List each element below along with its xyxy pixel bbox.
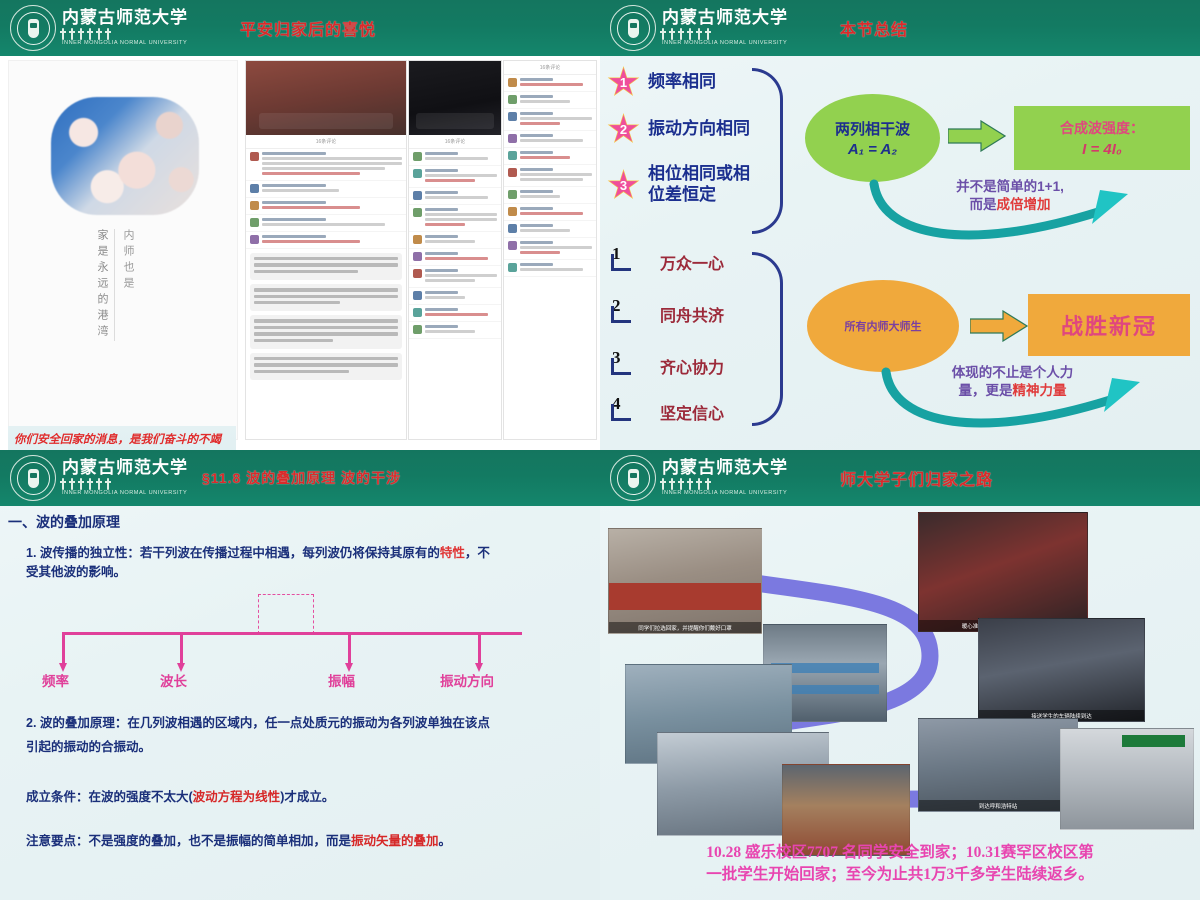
curve-note-2-line1: 体现的不止是个人力 [905, 364, 1120, 382]
curve-note-2: 体现的不止是个人力 量，更是精神力量 [905, 364, 1120, 400]
slide-title-top-left: 平安归家后的喜悦 [240, 16, 376, 40]
moments-column-3: 16条评论 [503, 60, 597, 440]
tree-branch-frequency [62, 632, 65, 664]
slide-body-bottom-left: 一、波的叠加原理 1. 波传播的独立性：若干列波在传播过程中相遇，每列波仍将保持… [0, 506, 600, 900]
slide-bottom-right: 内蒙古师范大学 INNER MONGOLIA NORMAL UNIVERSITY… [600, 450, 1200, 900]
list-item [246, 198, 406, 215]
photo-caption: 到达呼和浩特站 [919, 800, 1077, 811]
slide-title-top-right: 本节总结 [840, 16, 908, 40]
list-item [504, 109, 596, 131]
slide-top-right: 内蒙古师范大学 INNER MONGOLIA NORMAL UNIVERSITY… [600, 0, 1200, 450]
university-cn-name: 内蒙古师范大学 [662, 459, 788, 476]
curve-note-1-line2-em: 成倍增加 [997, 197, 1051, 212]
paragraph-independence: 1. 波传播的独立性：若干列波在传播过程中相遇，每列波仍将保持其原有的特性，不 … [26, 544, 588, 583]
idea-label-1: 万众一心 [660, 250, 724, 274]
slide-bottom-left: 内蒙古师范大学 INNER MONGOLIA NORMAL UNIVERSITY… [0, 450, 600, 900]
comment-bubble [250, 315, 402, 349]
list-item [409, 205, 501, 232]
footer-line2: 一批学生开始回家；至今为止共1万3千多学生陆续返乡。 [610, 864, 1190, 886]
star-badge-2: 2 [609, 115, 638, 144]
poster-text-main: 家是永远的港湾 [89, 229, 114, 341]
p1-part-b: ，不 [465, 546, 490, 560]
paragraph-note: 注意要点：不是强度的叠加，也不是振幅的简单相加，而是振动矢量的叠加。 [26, 832, 592, 851]
paragraph-condition: 成立条件：在波的强度不太大(波动方程为线性)才成立。 [26, 788, 592, 807]
curve-note-2-line2: 量，更是精神力量 [905, 382, 1120, 400]
night-scene-photo [409, 61, 501, 135]
p4-emphasis: 振动矢量的叠加 [351, 834, 439, 848]
curve-note-1-line1: 并不是简单的1+1, [900, 178, 1120, 196]
university-wordmark: 内蒙古师范大学 INNER MONGOLIA NORMAL UNIVERSITY [62, 9, 188, 47]
photo-station-crowd: 到达呼和浩特站 [918, 718, 1078, 812]
coherent-wave-ellipse: 两列相干波 A₁ = A₂ [805, 94, 940, 182]
university-wordmark: 内蒙古师范大学 INNER MONGOLIA NORMAL UNIVERSITY [62, 459, 188, 497]
university-cn-name: 内蒙古师范大学 [62, 459, 188, 476]
curve-note-1: 并不是简单的1+1, 而是成倍增加 [900, 178, 1120, 214]
comment-count-label-2: 16条评论 [409, 135, 501, 149]
comment-bubble [250, 253, 402, 280]
tree-leaf-amplitude: 振幅 [328, 670, 355, 690]
list-item [409, 266, 501, 288]
list-item [504, 165, 596, 187]
university-wordmark: 内蒙古师范大学 INNER MONGOLIA NORMAL UNIVERSITY [662, 9, 788, 47]
idea-number-3: 3 [610, 350, 632, 376]
list-item [504, 92, 596, 109]
tree-leaf-direction: 振动方向 [440, 670, 494, 690]
list-item [409, 322, 501, 339]
comment-bubble [250, 284, 402, 311]
encouragement-caption: 你们安全回家的消息，是我们奋斗的不竭动力！ [8, 426, 236, 450]
comment-count-label-3: 16条评论 [504, 61, 596, 75]
condition-label-3-line2: 位差恒定 [648, 184, 750, 205]
all-members-ellipse: 所有内师大师生 [807, 280, 959, 372]
list-item [504, 75, 596, 92]
university-seal-icon [610, 5, 656, 51]
university-logo: 内蒙古师范大学 INNER MONGOLIA NORMAL UNIVERSITY [610, 455, 788, 501]
photo-red-carpet-farewell: 同学们拉选回家，并提醒你们戴好口罩 [608, 528, 762, 634]
mongolian-script [662, 478, 788, 490]
university-seal-icon [10, 5, 56, 51]
result-line1: 合成波强度： [1060, 118, 1144, 138]
university-seal-icon [610, 455, 656, 501]
p3-emphasis: 波动方程为线性 [193, 790, 281, 804]
university-en-name: INNER MONGOLIA NORMAL UNIVERSITY [62, 491, 188, 497]
photo-platform-walking [1060, 728, 1194, 830]
curve-note-1-line2-plain: 而是 [970, 197, 997, 212]
list-item [409, 288, 501, 305]
slide-header-top-right: 内蒙古师范大学 INNER MONGOLIA NORMAL UNIVERSITY… [600, 0, 1200, 56]
idea-number-4: 4 [610, 396, 632, 422]
list-item [504, 204, 596, 221]
p3-part-b: )才成立。 [280, 790, 334, 804]
condition-label-3-line1: 相位相同或相 [648, 163, 750, 184]
p1-part-a: 1. 波传播的独立性：若干列波在传播过程中相遇，每列波仍将保持其原有的 [26, 546, 440, 560]
list-item [246, 232, 406, 249]
return-statistics-footer: 10.28 盛乐校区7707 名同学安全到家；10.31赛罕区校区第 一批学生开… [610, 842, 1190, 887]
list-item [504, 260, 596, 277]
list-item [409, 232, 501, 249]
list-item [409, 166, 501, 188]
p4-part-b: 。 [439, 834, 452, 848]
campus-gate-photo [246, 61, 406, 135]
list-item [246, 215, 406, 232]
brace-conditions [752, 68, 783, 234]
comment-count-label-1: 16条评论 [246, 135, 406, 149]
home-harbor-poster: 内师也是 家是永远的港湾 [8, 60, 238, 440]
result-box-intensity: 合成波强度： I = 4I₀ [1014, 106, 1190, 170]
slide-grid: 内蒙古师范大学 INNER MONGOLIA NORMAL UNIVERSITY… [0, 0, 1200, 900]
tree-branch-direction [478, 632, 481, 664]
victory-box: 战胜新冠 [1028, 294, 1190, 356]
photo-coach-buses-night: 接送学生的车辆陆续到达 [978, 618, 1145, 722]
list-item [409, 249, 501, 266]
moments-column-2: 16条评论 [408, 60, 502, 440]
p1-emphasis: 特性 [440, 546, 465, 560]
cherry-blossom-photo [51, 97, 199, 215]
mongolian-script [62, 28, 188, 40]
slide-title-bottom-right: 师大学子们归家之路 [840, 466, 993, 490]
university-seal-icon [10, 455, 56, 501]
university-en-name: INNER MONGOLIA NORMAL UNIVERSITY [62, 41, 188, 47]
photo-handing-supplies-night: 暖心准备给学生们带到路上的小吃 [918, 512, 1088, 632]
idea-label-3: 齐心协力 [660, 354, 724, 378]
photo-caption: 同学们拉选回家，并提醒你们戴好口罩 [609, 622, 761, 633]
comment-bubble [250, 353, 402, 380]
idea-label-2: 同舟共济 [660, 302, 724, 326]
tree-branch-wavelength [180, 632, 183, 664]
p2-line1: 2. 波的叠加原理：在几列波相遇的区域内，任一点处质元的振动为各列波单独在该点 [26, 712, 592, 736]
list-item [246, 149, 406, 181]
university-en-name: INNER MONGOLIA NORMAL UNIVERSITY [662, 41, 788, 47]
university-logo: 内蒙古师范大学 INNER MONGOLIA NORMAL UNIVERSITY [610, 5, 788, 51]
university-logo: 内蒙古师范大学 INNER MONGOLIA NORMAL UNIVERSITY [10, 455, 188, 501]
poster-text-lead: 内师也是 [114, 229, 140, 341]
list-item [504, 221, 596, 238]
p3-part-a: 成立条件：在波的强度不太大( [26, 790, 193, 804]
mongolian-script [662, 28, 788, 40]
list-item [504, 187, 596, 204]
tree-leaf-frequency: 频率 [42, 670, 69, 690]
list-item [409, 149, 501, 166]
slide-body-top-left: 内师也是 家是永远的港湾 你们安全回家的消息，是我们奋斗的不竭动力！ 16条评论 [0, 56, 600, 450]
idea-number-1: 1 [610, 246, 632, 272]
slide-body-bottom-right: 同学们拉选回家，并提醒你们戴好口罩 暖心准备给学生们带到路上的小吃 接送学生的车… [600, 506, 1200, 900]
poster-vertical-text: 内师也是 家是永远的港湾 [89, 229, 140, 341]
condition-label-3: 相位相同或相 位差恒定 [648, 163, 750, 206]
list-item [409, 188, 501, 205]
people-ellipse-label: 所有内师大师生 [845, 318, 922, 334]
condition-label-1: 频率相同 [648, 71, 716, 92]
idea-label-4: 坚定信心 [660, 400, 724, 424]
brace-ideas [752, 252, 783, 426]
paragraph-superposition: 2. 波的叠加原理：在几列波相遇的区域内，任一点处质元的振动为各列波单独在该点 … [26, 712, 592, 760]
university-cn-name: 内蒙古师范大学 [62, 9, 188, 26]
university-en-name: INNER MONGOLIA NORMAL UNIVERSITY [662, 491, 788, 497]
wave-property-dashed-box [258, 594, 314, 634]
moments-column-1: 16条评论 [245, 60, 407, 440]
footer-line1: 10.28 盛乐校区7707 名同学安全到家；10.31赛罕区校区第 [610, 842, 1190, 864]
star-badge-1: 1 [609, 68, 638, 97]
star-badge-3: 3 [609, 171, 638, 200]
coherent-ellipse-line2: A₁ = A₂ [848, 141, 897, 158]
curve-note-2-line2-plain: 量，更是 [959, 383, 1013, 398]
slide-header-bottom-right: 内蒙古师范大学 INNER MONGOLIA NORMAL UNIVERSITY… [600, 450, 1200, 506]
slide-header-top-left: 内蒙古师范大学 INNER MONGOLIA NORMAL UNIVERSITY… [0, 0, 600, 56]
slide-top-left: 内蒙古师范大学 INNER MONGOLIA NORMAL UNIVERSITY… [0, 0, 600, 450]
curve-note-2-line2-em: 精神力量 [1013, 383, 1067, 398]
tree-branch-amplitude [348, 632, 351, 664]
university-wordmark: 内蒙古师范大学 INNER MONGOLIA NORMAL UNIVERSITY [662, 459, 788, 497]
section-title: 一、波的叠加原理 [8, 512, 120, 532]
slide-body-top-right: 1 频率相同 2 振动方向相同 3 相位相同或相 位差恒定 两列相干波 A₁ =… [600, 56, 1200, 450]
list-item [504, 131, 596, 148]
slide-title-bottom-left: §11.8 波的叠加原理 波的干涉 [202, 468, 401, 488]
p1-line2: 受其他波的影响。 [26, 563, 588, 582]
block-arrow-right-green [948, 120, 1006, 152]
list-item [409, 305, 501, 322]
idea-number-2: 2 [610, 298, 632, 324]
slide-header-bottom-left: 内蒙古师范大学 INNER MONGOLIA NORMAL UNIVERSITY… [0, 450, 600, 506]
mongolian-script [62, 478, 188, 490]
p4-part-a: 注意要点：不是强度的叠加，也不是振幅的简单相加，而是 [26, 834, 351, 848]
curve-note-1-line2: 而是成倍增加 [900, 196, 1120, 214]
list-item [504, 238, 596, 260]
coherent-ellipse-line1: 两列相干波 [835, 118, 910, 139]
tree-leaf-wavelength: 波长 [160, 670, 187, 690]
condition-label-2: 振动方向相同 [648, 118, 750, 139]
university-logo: 内蒙古师范大学 INNER MONGOLIA NORMAL UNIVERSITY [10, 5, 188, 51]
victory-label: 战胜新冠 [1061, 309, 1157, 341]
list-item [246, 181, 406, 198]
list-item [504, 148, 596, 165]
university-cn-name: 内蒙古师范大学 [662, 9, 788, 26]
result-line2: I = 4I₀ [1082, 141, 1122, 158]
tree-horizontal-line [62, 632, 522, 635]
p2-line2: 引起的振动的合振动。 [26, 736, 592, 760]
block-arrow-right-orange [970, 310, 1028, 342]
